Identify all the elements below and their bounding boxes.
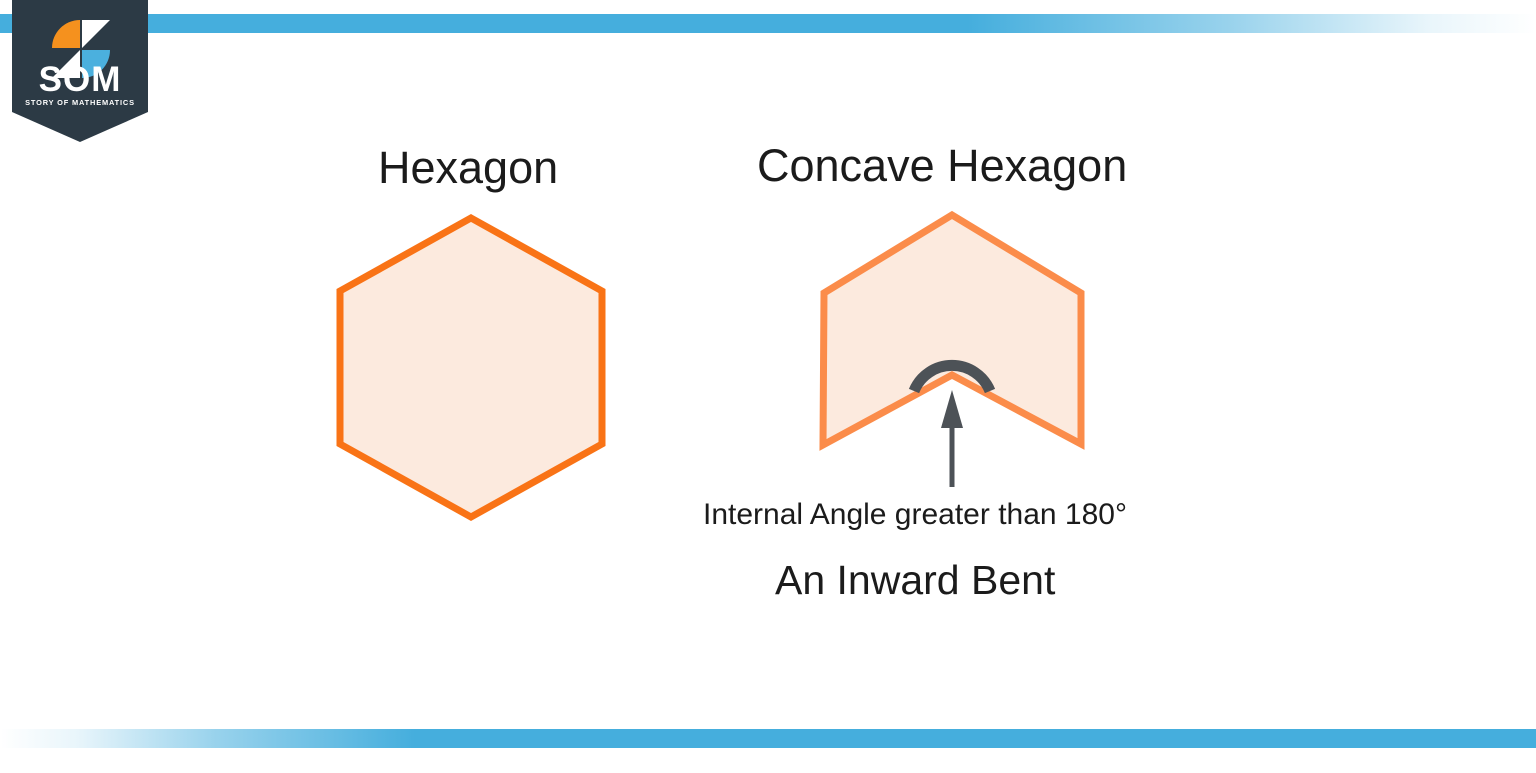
- bottom-decorative-bar: [0, 729, 1536, 748]
- figure-stage: Hexagon Concave Hexagon Internal Angle g…: [0, 0, 1536, 768]
- inward-bent-caption: An Inward Bent: [775, 560, 1055, 601]
- shape-layer: [0, 0, 1536, 768]
- hexagon-shape: [340, 218, 602, 517]
- internal-angle-caption: Internal Angle greater than 180°: [703, 500, 1127, 530]
- angle-pointer-arrow: [941, 390, 963, 487]
- page-root: SOM STORY OF MATHEMATICS Hexagon Concave…: [0, 0, 1536, 768]
